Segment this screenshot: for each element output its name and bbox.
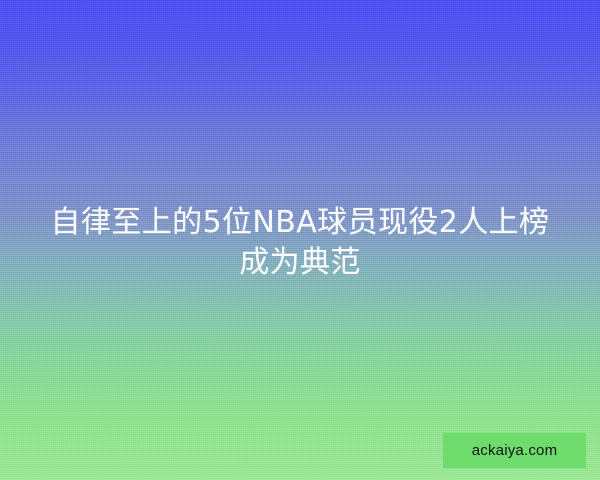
watermark-label: ackaiya.com (472, 443, 558, 458)
title-block: 自律至上的5位NBA球员现役2人上榜成为典范 (0, 203, 600, 283)
page-title: 自律至上的5位NBA球员现役2人上榜成为典范 (38, 203, 562, 283)
watermark-badge: ackaiya.com (443, 433, 586, 468)
article-cover-image: 自律至上的5位NBA球员现役2人上榜成为典范 ackaiya.com (0, 0, 600, 480)
